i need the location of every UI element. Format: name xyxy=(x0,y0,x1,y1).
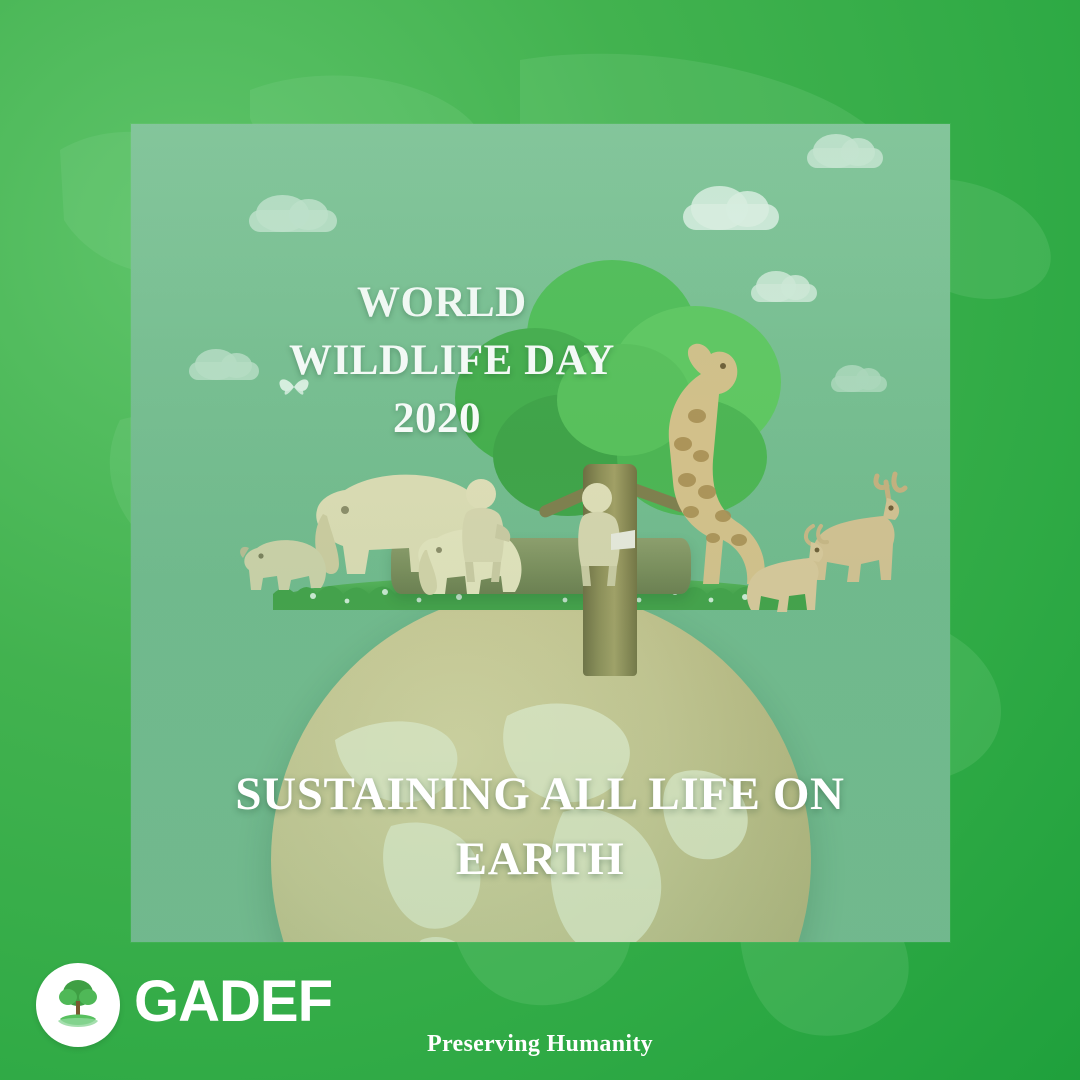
brand-slogan: Preserving Humanity xyxy=(0,1031,1080,1058)
boar xyxy=(235,524,333,596)
cloud-icon xyxy=(683,204,779,230)
headline-line-3: 2020 xyxy=(289,390,709,448)
tagline: SUSTAINING ALL LIFE ON EARTH xyxy=(160,762,920,892)
child-right xyxy=(563,480,637,590)
child-left xyxy=(447,476,517,586)
cloud-icon xyxy=(249,210,337,232)
cloud-icon xyxy=(831,376,887,392)
cloud-icon xyxy=(189,362,259,380)
poster-root: WORLD WILDLIFE DAY 2020 SUSTAINING ALL L… xyxy=(0,0,1080,1080)
headline-line-1: WORLD xyxy=(289,274,709,332)
headline: WORLD WILDLIFE DAY 2020 xyxy=(289,274,709,448)
brand-name: GADEF xyxy=(134,973,332,1037)
fawn xyxy=(729,516,837,616)
headline-line-2: WILDLIFE DAY xyxy=(289,332,709,390)
cloud-icon xyxy=(807,148,883,168)
tree-in-hand-icon xyxy=(48,973,108,1038)
